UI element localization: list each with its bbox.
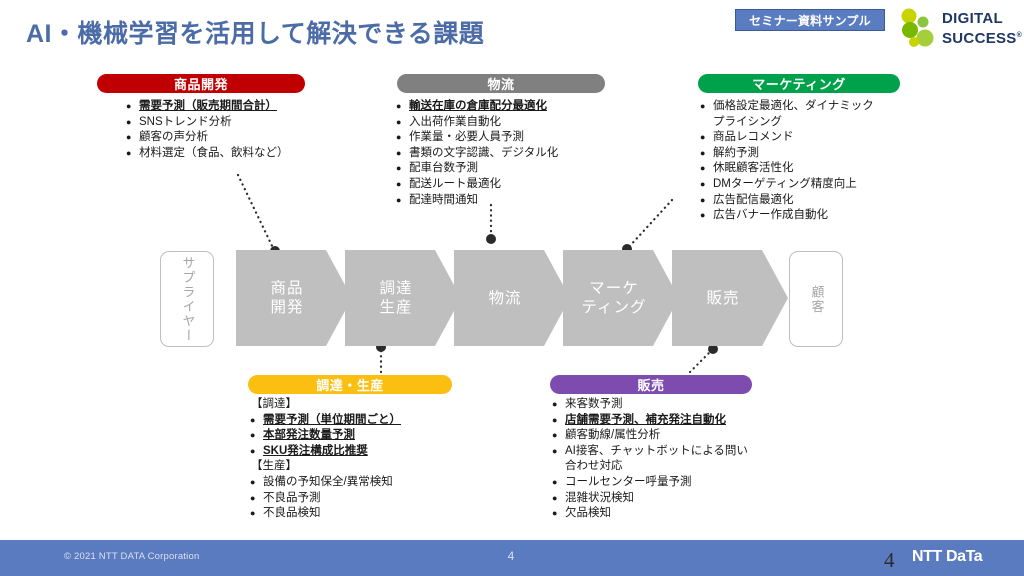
bullet-item: ●需要予測（販売期間合計）: [126, 99, 326, 115]
flow-end-box-customer: 顧客: [789, 251, 843, 347]
flow-step-marketing: マーケティング: [563, 250, 679, 346]
flow-step-label: 物流: [488, 289, 535, 308]
flow-end-box-label: 顧客: [809, 285, 824, 314]
logo-line-2: SUCCESS: [942, 30, 1017, 47]
bullet-dot-icon: ●: [396, 115, 409, 131]
bullet-item-label: 輸送在庫の倉庫配分最適化: [409, 99, 606, 115]
slide-canvas: AI・機械学習を活用して解決できる課題 セミナー資料サンプル DIGITAL S…: [0, 0, 1024, 576]
bullet-list-sales: ●来客数予測●店舗需要予測、補充発注自動化●顧客動線/属性分析●AI接客、チャッ…: [552, 397, 752, 522]
bullet-item-label: DMターゲティング精度向上: [713, 177, 885, 193]
bullet-item: ●顧客の声分析: [126, 130, 326, 146]
bullet-item: ●広告配信最適化: [700, 193, 885, 209]
bullet-list-procurement-production: 【調達】●需要予測（単位期間ごと）●本部発注数量予測●SKU発注構成比推奨【生産…: [250, 397, 465, 522]
bullet-item-label: SKU発注構成比推奨: [263, 444, 465, 460]
bullet-dot-icon: ●: [250, 506, 263, 522]
bullet-item-label: 広告配信最適化: [713, 193, 885, 209]
flow-step-product-development: 商品開発: [236, 250, 352, 346]
bullet-dot-icon: ●: [552, 491, 565, 507]
bullet-item-label: 欠品検知: [565, 506, 752, 522]
overlay-page-number: 4: [884, 548, 895, 573]
bullet-item: ●DMターゲティング精度向上: [700, 177, 885, 193]
bullet-dot-icon: ●: [126, 130, 139, 146]
flow-step-procurement-production: 調達生産: [345, 250, 461, 346]
bullet-dot-icon: ●: [250, 491, 263, 507]
bullet-item: ●価格設定最適化、ダイナミックプライシング: [700, 99, 885, 130]
bullet-dot-icon: ●: [700, 99, 713, 115]
bullet-item-label: 入出荷作業自動化: [409, 115, 606, 131]
digital-success-wordmark: DIGITAL SUCCESS®: [942, 11, 1022, 46]
bullet-dot-icon: ●: [552, 475, 565, 491]
category-pill-product-development: 商品開発: [97, 74, 305, 93]
bullet-dot-icon: ●: [396, 193, 409, 209]
bullet-item: ●店舗需要予測、補充発注自動化: [552, 413, 752, 429]
bullet-item: ●コールセンター呼量予測: [552, 475, 752, 491]
bullet-item: ●混雑状況検知: [552, 491, 752, 507]
flow-step-label: マーケティング: [581, 279, 660, 317]
bullet-item: ●入出荷作業自動化: [396, 115, 606, 131]
bullet-item: ●AI接客、チャットボットによる問い合わせ対応: [552, 444, 752, 475]
bullet-item-label: AI接客、チャットボットによる問い合わせ対応: [565, 444, 752, 475]
bullet-group-heading: 【生産】: [250, 459, 465, 475]
bullet-item-label: 解約予測: [713, 146, 885, 162]
bullet-item-label: 配車台数予測: [409, 161, 606, 177]
bullet-dot-icon: ●: [396, 161, 409, 177]
bullet-item: ●広告バナー作成自動化: [700, 208, 885, 224]
bullet-item-label: 本部発注数量予測: [263, 428, 465, 444]
bullet-item-label: 配達時間通知: [409, 193, 606, 209]
ntt-data-logo: NTT DaTa: [912, 548, 982, 566]
bullet-list-product-development: ●需要予測（販売期間合計）●SNSトレンド分析●顧客の声分析●材料選定（食品、飲…: [126, 99, 326, 161]
bullet-dot-icon: ●: [396, 146, 409, 162]
sample-badge: セミナー資料サンプル: [735, 9, 885, 31]
bullet-item-label: 需要予測（単位期間ごと）: [263, 413, 465, 429]
footer-page-number: 4: [496, 549, 526, 563]
bullet-item-label: コールセンター呼量予測: [565, 475, 752, 491]
bullet-item: ●設備の予知保全/異常検知: [250, 475, 465, 491]
bullet-dot-icon: ●: [700, 130, 713, 146]
bullet-dot-icon: ●: [700, 177, 713, 193]
bullet-dot-icon: ●: [126, 99, 139, 115]
bullet-item-label: 広告バナー作成自動化: [713, 208, 885, 224]
logo-line-1: DIGITAL: [942, 10, 1003, 27]
bullet-item-label: 設備の予知保全/異常検知: [263, 475, 465, 491]
bullet-item-label: 店舗需要予測、補充発注自動化: [565, 413, 752, 429]
bullet-dot-icon: ●: [126, 146, 139, 162]
flow-step-label: 調達生産: [379, 279, 426, 317]
bullet-dot-icon: ●: [700, 208, 713, 224]
bullet-dot-icon: ●: [396, 177, 409, 193]
bullet-dot-icon: ●: [552, 444, 565, 460]
flow-step-logistics: 物流: [454, 250, 570, 346]
category-pill-sales: 販売: [550, 375, 752, 394]
bullet-dot-icon: ●: [700, 193, 713, 209]
bullet-dot-icon: ●: [552, 413, 565, 429]
category-pill-procurement-production: 調達・生産: [248, 375, 452, 394]
bullet-item-label: 書類の文字認識、デジタル化: [409, 146, 606, 162]
bullet-dot-icon: ●: [552, 397, 565, 413]
bullet-item: ●需要予測（単位期間ごと）: [250, 413, 465, 429]
bullet-item: ●配達時間通知: [396, 193, 606, 209]
bullet-item: ●不良品検知: [250, 506, 465, 522]
bullet-list-marketing: ●価格設定最適化、ダイナミックプライシング●商品レコメンド●解約予測●休眠顧客活…: [700, 99, 885, 224]
digital-success-logo: DIGITAL SUCCESS®: [898, 4, 1020, 52]
bullet-item: ●作業量・必要人員予測: [396, 130, 606, 146]
footer-bar: © 2021 NTT DATA Corporation 4 NTT DaTa: [0, 540, 1024, 576]
bullet-dot-icon: ●: [250, 428, 263, 444]
bullet-item-label: SNSトレンド分析: [139, 115, 326, 131]
bullet-dot-icon: ●: [552, 506, 565, 522]
bullet-item-label: 来客数予測: [565, 397, 752, 413]
bullet-item: ●商品レコメンド: [700, 130, 885, 146]
bullet-dot-icon: ●: [700, 146, 713, 162]
bullet-item: ●SKU発注構成比推奨: [250, 444, 465, 460]
registered-mark: ®: [1017, 32, 1022, 39]
flow-start-box-supplier: サプライヤー: [160, 251, 214, 347]
bullet-item-label: 混雑状況検知: [565, 491, 752, 507]
bullet-item-label: 商品レコメンド: [713, 130, 885, 146]
bullet-item-label: 材料選定（食品、飲料など）: [139, 146, 326, 162]
digital-success-mark-icon: [898, 7, 940, 49]
footer-copyright: © 2021 NTT DATA Corporation: [64, 551, 199, 562]
bullet-item: ●材料選定（食品、飲料など）: [126, 146, 326, 162]
bullet-item-label: 作業量・必要人員予測: [409, 130, 606, 146]
bullet-item: ●輸送在庫の倉庫配分最適化: [396, 99, 606, 115]
page-title: AI・機械学習を活用して解決できる課題: [26, 14, 484, 50]
category-pill-logistics: 物流: [397, 74, 605, 93]
flow-start-box-label: サプライヤー: [180, 256, 195, 343]
bullet-item: ●顧客動線/属性分析: [552, 428, 752, 444]
bullet-item-label: 価格設定最適化、ダイナミックプライシング: [713, 99, 885, 130]
bullet-list-logistics: ●輸送在庫の倉庫配分最適化●入出荷作業自動化●作業量・必要人員予測●書類の文字認…: [396, 99, 606, 208]
bullet-item-label: 顧客の声分析: [139, 130, 326, 146]
bullet-dot-icon: ●: [250, 413, 263, 429]
bullet-item: ●不良品予測: [250, 491, 465, 507]
bullet-item-label: 顧客動線/属性分析: [565, 428, 752, 444]
bullet-dot-icon: ●: [250, 475, 263, 491]
bullet-item: ●休眠顧客活性化: [700, 161, 885, 177]
bullet-item: ●欠品検知: [552, 506, 752, 522]
bullet-item-label: 休眠顧客活性化: [713, 161, 885, 177]
flow-step-sales: 販売: [672, 250, 788, 346]
bullet-dot-icon: ●: [396, 130, 409, 146]
bullet-dot-icon: ●: [552, 428, 565, 444]
flow-step-label: 商品開発: [270, 279, 317, 317]
bullet-group-heading: 【調達】: [250, 397, 465, 413]
bullet-item-label: 配送ルート最適化: [409, 177, 606, 193]
bullet-item: ●SNSトレンド分析: [126, 115, 326, 131]
category-pill-marketing: マーケティング: [698, 74, 900, 93]
bullet-item-label: 不良品予測: [263, 491, 465, 507]
bullet-item: ●本部発注数量予測: [250, 428, 465, 444]
bullet-item: ●配車台数予測: [396, 161, 606, 177]
bullet-item: ●解約予測: [700, 146, 885, 162]
bullet-dot-icon: ●: [126, 115, 139, 131]
bullet-dot-icon: ●: [700, 161, 713, 177]
bullet-item: ●配送ルート最適化: [396, 177, 606, 193]
bullet-dot-icon: ●: [250, 444, 263, 460]
bullet-item-label: 不良品検知: [263, 506, 465, 522]
bullet-item: ●書類の文字認識、デジタル化: [396, 146, 606, 162]
bullet-item: ●来客数予測: [552, 397, 752, 413]
bullet-item-label: 需要予測（販売期間合計）: [139, 99, 326, 115]
bullet-dot-icon: ●: [396, 99, 409, 115]
flow-step-label: 販売: [706, 289, 753, 308]
